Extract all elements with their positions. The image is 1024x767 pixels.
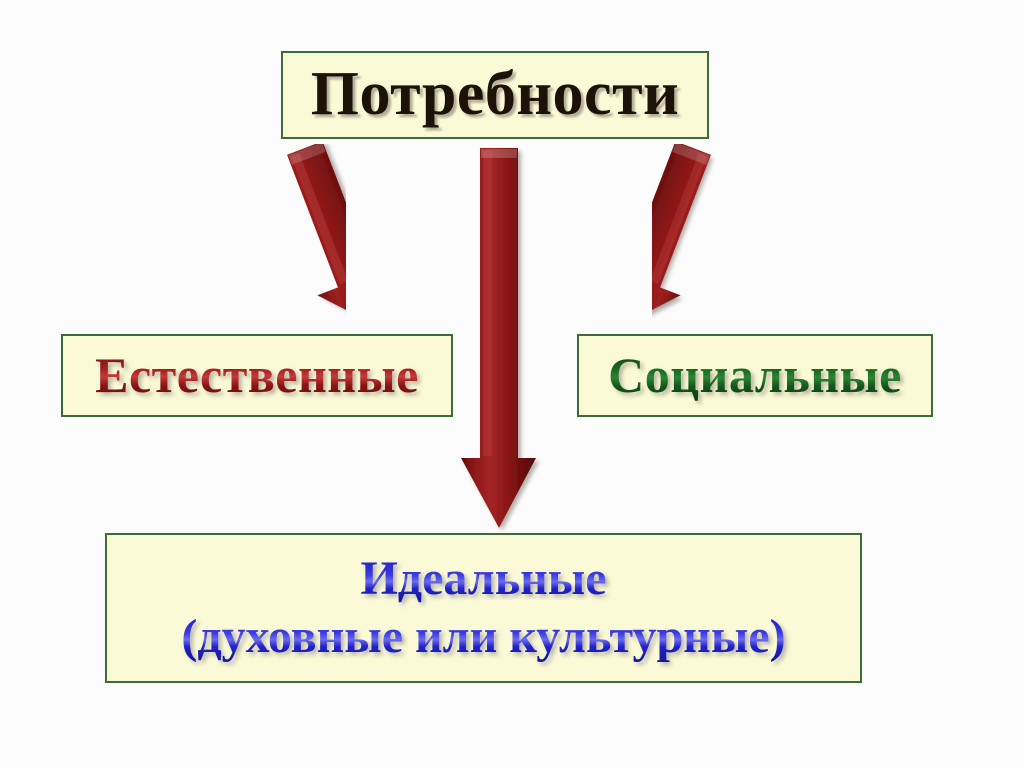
node-needs-label: Потребности — [311, 63, 680, 126]
node-ideal[interactable]: Идеальные (духовные или культурные) — [105, 533, 862, 683]
node-needs[interactable]: Потребности — [281, 51, 709, 139]
arrow-down-right-icon — [652, 144, 802, 344]
arrow-down-left-icon — [196, 144, 346, 344]
node-ideal-label-secondary: (духовные или культурные) — [181, 610, 785, 664]
node-natural[interactable]: Естественные — [61, 334, 453, 417]
diagram-canvas: Потребности Естественные Социальные Идеа… — [0, 0, 1024, 767]
node-natural-label: Естественные — [95, 350, 419, 401]
node-social-label: Социальные — [608, 350, 902, 401]
node-social[interactable]: Социальные — [577, 334, 933, 417]
arrow-down-icon — [452, 146, 548, 538]
node-ideal-label-primary: Идеальные — [360, 552, 606, 606]
